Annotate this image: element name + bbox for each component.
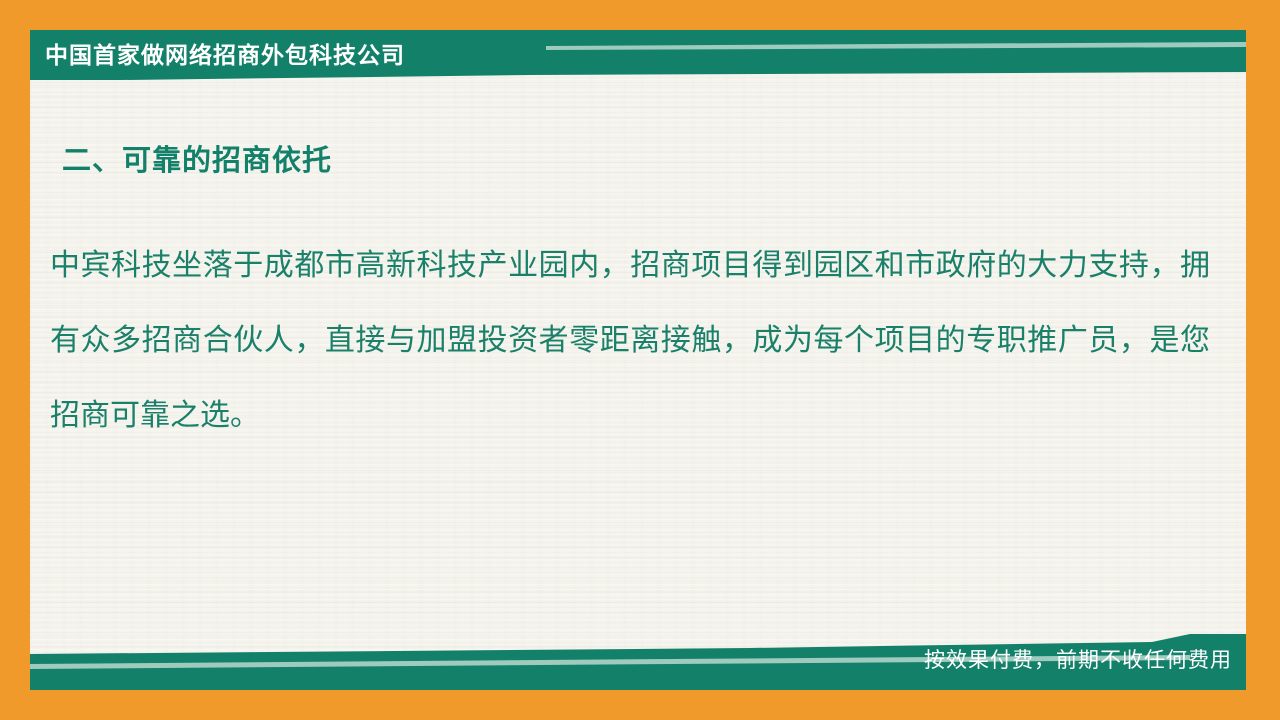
footer-tagline: 按效果付费，前期不收任何费用 <box>924 646 1232 676</box>
header-title: 中国首家做网络招商外包科技公司 <box>45 38 405 72</box>
section-heading: 二、可靠的招商依托 <box>62 137 332 179</box>
slide-frame-left <box>0 0 30 720</box>
body-paragraph: 中宾科技坐落于成都市高新科技产业园内，招商项目得到园区和市政府的大力支持，拥有众… <box>50 228 1210 453</box>
presentation-slide: 中国首家做网络招商外包科技公司 二、可靠的招商依托 中宾科技坐落于成都市高新科技… <box>0 0 1280 720</box>
slide-frame-bottom <box>0 690 1280 720</box>
slide-frame-right <box>1246 0 1280 720</box>
slide-content: 二、可靠的招商依托 中宾科技坐落于成都市高新科技产业园内，招商项目得到园区和市政… <box>30 80 1246 640</box>
slide-frame-top <box>0 0 1280 30</box>
